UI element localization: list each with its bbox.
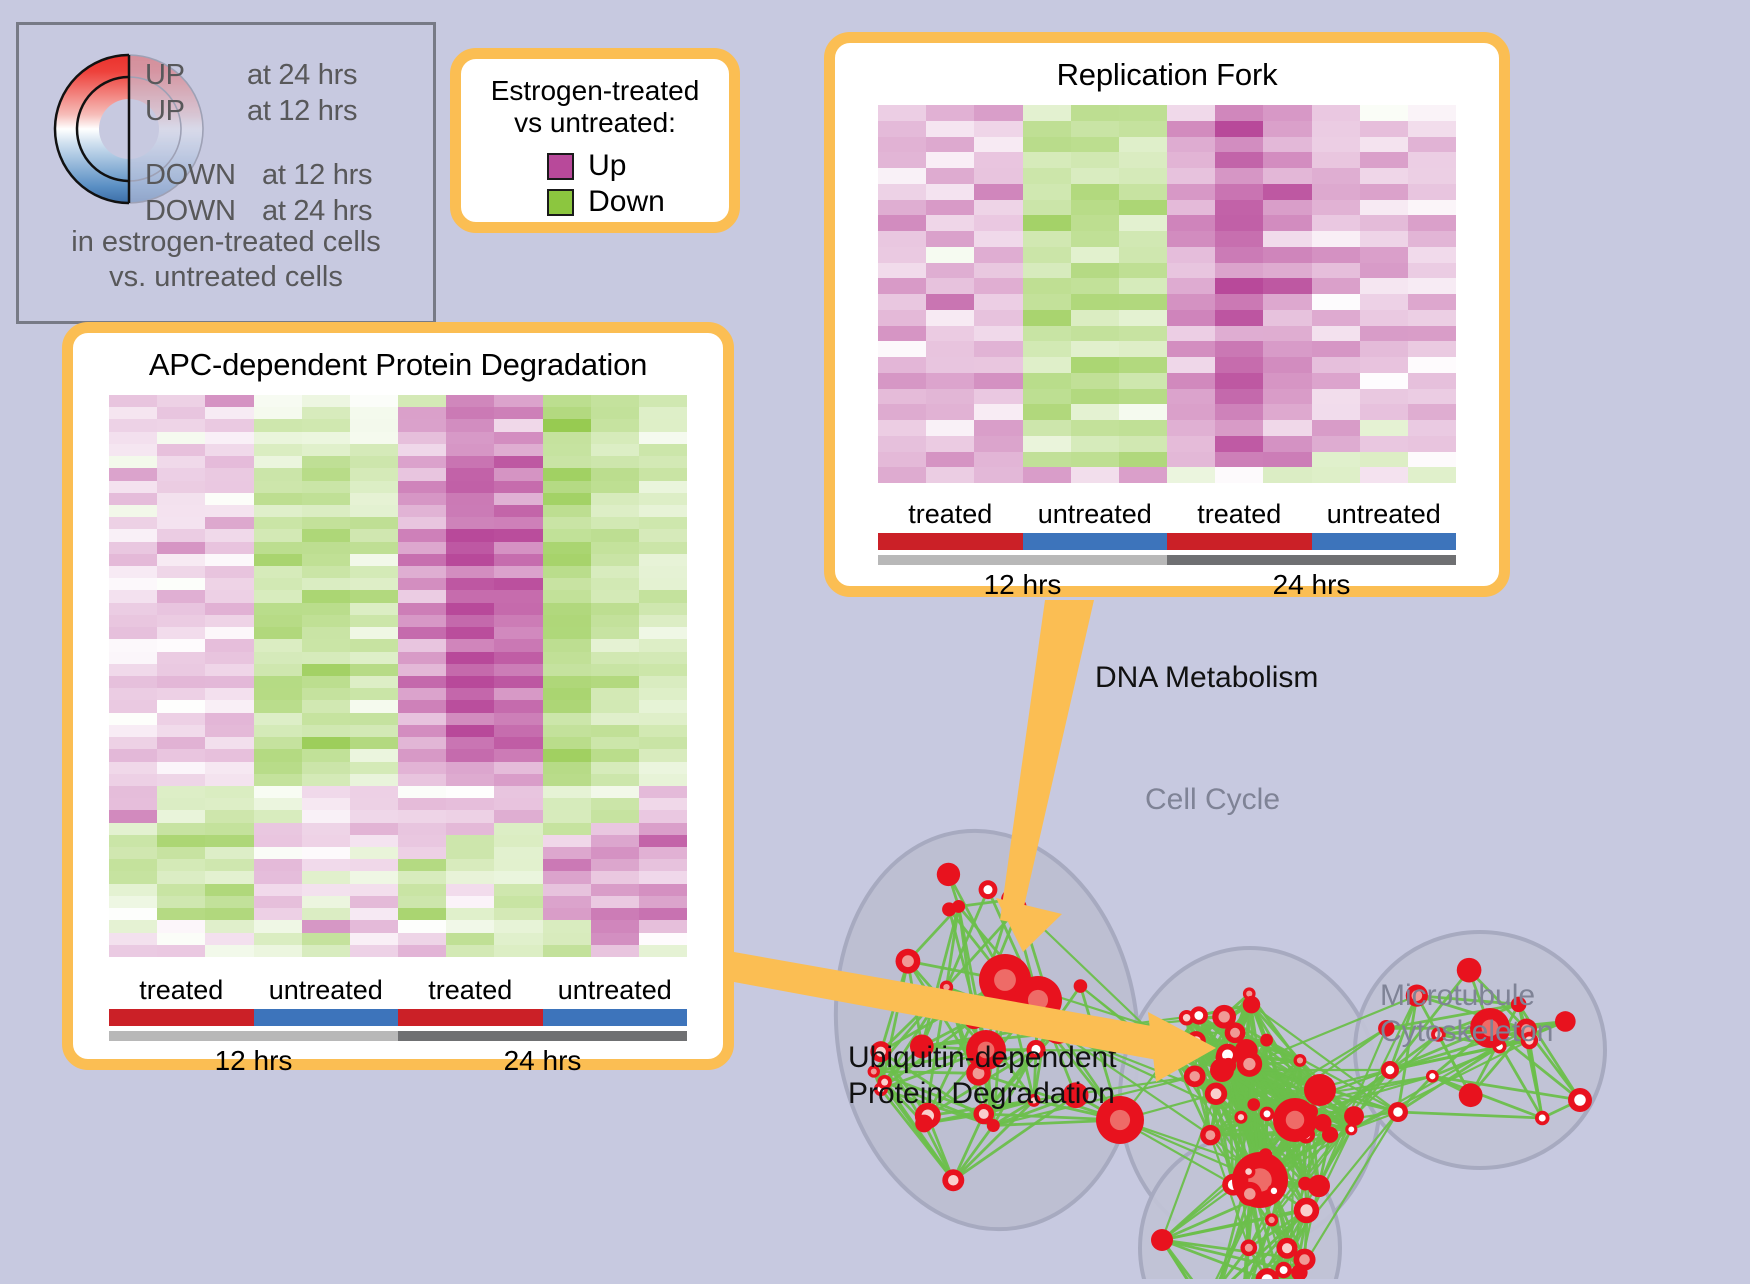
cluster-label-microtubule-cytoskeleton: Microtubule Cytoskeleton: [1380, 978, 1553, 1050]
replication-time-colorbar: [878, 555, 1456, 565]
heatmap-cell: [446, 810, 494, 822]
heatmap-cell: [591, 639, 639, 651]
heatmap-cell: [205, 933, 253, 945]
heatmap-cell: [350, 810, 398, 822]
heatmap-cell: [205, 505, 253, 517]
heatmap-cell: [398, 933, 446, 945]
replication-condition-colorbar: [878, 533, 1456, 550]
heatmap-cell: [157, 945, 205, 957]
heatmap-cell: [254, 749, 302, 761]
heatmap-cell: [109, 762, 157, 774]
heatmap-cell: [350, 566, 398, 578]
heatmap-cell: [446, 713, 494, 725]
heatmap-cell: [302, 590, 350, 602]
heatmap-cell: [302, 810, 350, 822]
heatmap-cell: [205, 908, 253, 920]
heatmap-cell: [926, 137, 974, 153]
heatmap-cell: [1119, 121, 1167, 137]
heatmap-cell: [1408, 404, 1456, 420]
heatmap-cell: [254, 798, 302, 810]
heatmap-cell: [1360, 137, 1408, 153]
heatmap-cell: [543, 798, 591, 810]
heatmap-cell: [254, 468, 302, 480]
cluster-label-line: DNA Metabolism: [1095, 660, 1318, 696]
heatmap-cell: [302, 481, 350, 493]
heatmap-cell: [254, 786, 302, 798]
heatmap-cell: [205, 774, 253, 786]
heatmap-cell: [350, 725, 398, 737]
heatmap-cell: [254, 823, 302, 835]
condition-label-3: untreated: [1312, 499, 1457, 533]
heatmap-cell: [1071, 215, 1119, 231]
heatmap-cell: [1167, 357, 1215, 373]
heatmap-cell: [254, 517, 302, 529]
heatmap-cell: [926, 168, 974, 184]
heatmap-cell: [205, 823, 253, 835]
heatmap-cell: [1215, 357, 1263, 373]
heatmap-cell: [639, 786, 687, 798]
heatmap-cell: [543, 468, 591, 480]
heatmap-cell: [639, 615, 687, 627]
heatmap-cell: [543, 871, 591, 883]
heatmap-cell: [109, 859, 157, 871]
heatmap-cell: [446, 762, 494, 774]
heatmap-cell: [1023, 247, 1071, 263]
heatmap-cell: [1312, 373, 1360, 389]
condition-bar-0: [878, 533, 1023, 550]
heatmap-cell: [591, 554, 639, 566]
heatmap-cell: [109, 481, 157, 493]
heatmap-cell: [302, 554, 350, 566]
heatmap-cell: [350, 774, 398, 786]
heatmap-cell: [639, 737, 687, 749]
heatmap-cell: [926, 263, 974, 279]
heatmap-cell: [398, 713, 446, 725]
heatmap-cell: [639, 700, 687, 712]
heatmap-cell: [878, 436, 926, 452]
heatmap-cell: [1215, 404, 1263, 420]
heatmap-cell: [974, 310, 1022, 326]
heatmap-cell: [350, 481, 398, 493]
ring-row-label-3: DOWN: [145, 195, 236, 228]
heatmap-cell: [350, 737, 398, 749]
heatmap-cell: [494, 810, 542, 822]
heatmap-cell: [1023, 137, 1071, 153]
heatmap-cell: [350, 786, 398, 798]
heatmap-cell: [494, 652, 542, 664]
heatmap-cell: [109, 419, 157, 431]
heatmap-cell: [974, 278, 1022, 294]
heatmap-cell: [398, 664, 446, 676]
heatmap-cell: [1023, 436, 1071, 452]
heatmap-cell: [926, 420, 974, 436]
heatmap-cell: [205, 847, 253, 859]
heatmap-cell: [350, 798, 398, 810]
heatmap-cell: [205, 615, 253, 627]
heatmap-cell: [494, 419, 542, 431]
heatmap-cell: [302, 493, 350, 505]
heatmap-cell: [1263, 357, 1311, 373]
heatmap-cell: [543, 542, 591, 554]
heatmap-cell: [205, 566, 253, 578]
heatmap-cell: [494, 896, 542, 908]
heatmap-cell: [205, 493, 253, 505]
heatmap-cell: [494, 884, 542, 896]
heatmap-cell: [591, 493, 639, 505]
heatmap-cell: [591, 847, 639, 859]
heatmap-cell: [302, 945, 350, 957]
heatmap-cell: [1408, 121, 1456, 137]
heatmap-cell: [543, 627, 591, 639]
network-node-core: [1190, 1071, 1200, 1081]
heatmap-cell: [446, 945, 494, 957]
heatmap-cell: [350, 688, 398, 700]
heatmap-cell: [878, 231, 926, 247]
heatmap-cell: [543, 590, 591, 602]
heatmap-cell: [543, 835, 591, 847]
heatmap-cell: [254, 603, 302, 615]
apc-degradation-heatmap: [109, 395, 687, 957]
heatmap-cell: [157, 542, 205, 554]
heatmap-cell: [1360, 467, 1408, 483]
heatmap-cell: [1408, 137, 1456, 153]
condition-label-0: treated: [109, 975, 254, 1009]
condition-label-0: treated: [878, 499, 1023, 533]
heatmap-cell: [494, 542, 542, 554]
heatmap-cell: [1023, 152, 1071, 168]
heatmap-cell: [109, 896, 157, 908]
heatmap-cell: [974, 436, 1022, 452]
heatmap-cell: [109, 676, 157, 688]
heatmap-cell: [398, 566, 446, 578]
heatmap-cell: [591, 945, 639, 957]
heatmap-cell: [1071, 420, 1119, 436]
heatmap-cell: [254, 713, 302, 725]
heatmap-cell: [639, 554, 687, 566]
heatmap-cell: [1119, 436, 1167, 452]
heatmap-cell: [398, 590, 446, 602]
network-node-core: [1348, 1126, 1354, 1132]
heatmap-cell: [254, 676, 302, 688]
heatmap-cell: [350, 456, 398, 468]
heatmap-cell: [398, 639, 446, 651]
heatmap-cell: [974, 152, 1022, 168]
heatmap-cell: [494, 481, 542, 493]
heatmap-cell: [398, 432, 446, 444]
heatmap-cell: [543, 432, 591, 444]
heatmap-cell: [1215, 294, 1263, 310]
network-node: [1151, 1229, 1173, 1251]
heatmap-cell: [639, 847, 687, 859]
heatmap-cell: [1360, 215, 1408, 231]
network-node-core: [1245, 1168, 1252, 1175]
heatmap-cell: [974, 231, 1022, 247]
heatmap-cell: [157, 456, 205, 468]
network-node: [1308, 1175, 1330, 1197]
heatmap-cell: [254, 456, 302, 468]
heatmap-cell: [157, 713, 205, 725]
heatmap-cell: [398, 810, 446, 822]
heatmap-cell: [302, 639, 350, 651]
heatmap-cell: [1408, 294, 1456, 310]
heatmap-cell: [398, 419, 446, 431]
ring-legend-footer-line2: vs. untreated cells: [19, 260, 433, 295]
heatmap-cell: [543, 762, 591, 774]
heatmap-cell: [591, 444, 639, 456]
heatmap-cell: [494, 688, 542, 700]
ring-row-time-0: at 24 hrs: [247, 59, 357, 92]
heatmap-cell: [1312, 452, 1360, 468]
heatmap-cell: [1023, 357, 1071, 373]
heatmap-cell: [639, 529, 687, 541]
heatmap-cell: [157, 395, 205, 407]
heatmap-cell: [350, 590, 398, 602]
heatmap-cell: [1023, 452, 1071, 468]
heatmap-cell: [1215, 278, 1263, 294]
apc-condition-labels: treated untreated treated untreated: [109, 975, 687, 1009]
heatmap-cell: [1263, 152, 1311, 168]
heatmap-cell: [109, 664, 157, 676]
heatmap-cell: [494, 578, 542, 590]
heatmap-cell: [543, 554, 591, 566]
heatmap-cell: [157, 481, 205, 493]
network-node-core: [1386, 1066, 1395, 1075]
heatmap-cell: [157, 652, 205, 664]
network-node: [1322, 1127, 1338, 1143]
heatmap-cell: [1023, 294, 1071, 310]
heatmap-cell: [1167, 326, 1215, 342]
heatmap-cell: [591, 603, 639, 615]
heatmap-cell: [1263, 247, 1311, 263]
heatmap-cell: [543, 713, 591, 725]
heatmap-cell: [302, 419, 350, 431]
heatmap-cell: [302, 688, 350, 700]
heatmap-cell: [1167, 215, 1215, 231]
apc-condition-colorbar: [109, 1009, 687, 1026]
heatmap-cell: [157, 505, 205, 517]
heatmap-cell: [1360, 452, 1408, 468]
heatmap-cell: [1023, 184, 1071, 200]
network-node-core: [1282, 1243, 1292, 1253]
heatmap-cell: [1263, 121, 1311, 137]
heatmap-cell: [205, 700, 253, 712]
heatmap-cell: [302, 676, 350, 688]
heatmap-cell: [254, 774, 302, 786]
replication-fork-panel: Replication Fork treated untreated treat…: [824, 32, 1510, 597]
heatmap-cell: [109, 908, 157, 920]
heatmap-cell: [350, 933, 398, 945]
heatmap-cell: [157, 664, 205, 676]
heatmap-cell: [1119, 137, 1167, 153]
heatmap-cell: [1071, 436, 1119, 452]
heatmap-cell: [446, 920, 494, 932]
heatmap-cell: [254, 884, 302, 896]
heatmap-cell: [1312, 278, 1360, 294]
heatmap-cell: [1167, 200, 1215, 216]
heatmap-cell: [302, 725, 350, 737]
heatmap-cell: [494, 664, 542, 676]
ring-gradient-svg: [49, 39, 209, 219]
heatmap-cell: [639, 566, 687, 578]
heatmap-cell: [1263, 137, 1311, 153]
heatmap-cell: [157, 407, 205, 419]
heatmap-cell: [205, 627, 253, 639]
heatmap-cell: [157, 835, 205, 847]
heatmap-cell: [205, 713, 253, 725]
heatmap-cell: [350, 529, 398, 541]
heatmap-cell: [302, 542, 350, 554]
heatmap-cell: [639, 456, 687, 468]
heatmap-cell: [302, 517, 350, 529]
up-label: Up: [588, 149, 626, 183]
down-label: Down: [588, 185, 665, 219]
heatmap-cell: [109, 639, 157, 651]
key-item-up: Up: [547, 149, 665, 183]
heatmap-cell: [350, 713, 398, 725]
heatmap-cell: [205, 945, 253, 957]
heatmap-cell: [1215, 420, 1263, 436]
heatmap-cell: [543, 444, 591, 456]
heatmap-cell: [494, 407, 542, 419]
heatmap-cell: [543, 774, 591, 786]
heatmap-cell: [350, 700, 398, 712]
heatmap-cell: [1215, 263, 1263, 279]
heatmap-cell: [205, 542, 253, 554]
heatmap-cell: [1312, 263, 1360, 279]
heatmap-cell: [109, 847, 157, 859]
heatmap-cell: [543, 737, 591, 749]
heatmap-cell: [1360, 247, 1408, 263]
network-node-core: [1192, 1036, 1201, 1045]
heatmap-cell: [1360, 373, 1408, 389]
heatmap-cell: [639, 725, 687, 737]
heatmap-cell: [350, 871, 398, 883]
heatmap-cell: [109, 810, 157, 822]
heatmap-cell: [639, 664, 687, 676]
heatmap-cell: [591, 395, 639, 407]
heatmap-cell: [157, 419, 205, 431]
condition-bar-1: [254, 1009, 399, 1026]
heatmap-cell: [974, 420, 1022, 436]
heatmap-cell: [1071, 467, 1119, 483]
network-node: [1210, 1058, 1234, 1082]
heatmap-cell: [639, 871, 687, 883]
heatmap-cell: [205, 725, 253, 737]
heatmap-cell: [1071, 152, 1119, 168]
heatmap-cell: [494, 627, 542, 639]
heatmap-cell: [1119, 341, 1167, 357]
ring-row-label-0: UP: [145, 59, 185, 92]
network-node: [1247, 1098, 1260, 1111]
heatmap-cell: [1312, 137, 1360, 153]
network-node-core: [1165, 1045, 1176, 1056]
heatmap-cell: [350, 517, 398, 529]
heatmap-cell: [254, 847, 302, 859]
heatmap-cell: [398, 395, 446, 407]
heatmap-cell: [157, 590, 205, 602]
heatmap-cell: [878, 326, 926, 342]
heatmap-cell: [1408, 231, 1456, 247]
heatmap-cell: [398, 847, 446, 859]
heatmap-cell: [639, 688, 687, 700]
up-color-swatch: [547, 153, 574, 180]
heatmap-cell: [1119, 278, 1167, 294]
heatmap-cell: [1263, 341, 1311, 357]
heatmap-cell: [205, 603, 253, 615]
heatmap-cell: [157, 823, 205, 835]
heatmap-cell: [543, 933, 591, 945]
cluster-label-line: Cytoskeleton: [1380, 1014, 1553, 1050]
heatmap-cell: [543, 566, 591, 578]
heatmap-cell: [157, 908, 205, 920]
heatmap-cell: [494, 456, 542, 468]
heatmap-cell: [1408, 247, 1456, 263]
heatmap-cell: [1215, 215, 1263, 231]
heatmap-cell: [205, 664, 253, 676]
heatmap-cell: [205, 529, 253, 541]
heatmap-cell: [1071, 294, 1119, 310]
heatmap-cell: [1167, 389, 1215, 405]
heatmap-cell: [494, 835, 542, 847]
heatmap-cell: [639, 639, 687, 651]
network-node-core: [1429, 1073, 1435, 1079]
cluster-label-ubiquitin-degradation: Ubiquitin-dependent Protein Degradation: [848, 1040, 1117, 1112]
cluster-label-line: Ubiquitin-dependent: [848, 1040, 1117, 1076]
heatmap-cell: [591, 566, 639, 578]
heatmap-cell: [205, 810, 253, 822]
heatmap-cell: [398, 627, 446, 639]
heatmap-cell: [494, 798, 542, 810]
cluster-halo-dna-metabolism: [811, 811, 1164, 1249]
key-title-line1: Estrogen-treated: [461, 75, 729, 107]
heatmap-cell: [302, 933, 350, 945]
heatmap-cell: [926, 326, 974, 342]
network-node-core: [1244, 1188, 1256, 1200]
heatmap-cell: [350, 432, 398, 444]
heatmap-cell: [1360, 357, 1408, 373]
heatmap-cell: [350, 920, 398, 932]
heatmap-cell: [926, 467, 974, 483]
heatmap-cell: [1023, 389, 1071, 405]
cluster-label-line: Protein Degradation: [848, 1076, 1117, 1112]
heatmap-cell: [205, 481, 253, 493]
network-node: [1243, 996, 1261, 1014]
heatmap-cell: [1263, 231, 1311, 247]
heatmap-cell: [205, 432, 253, 444]
heatmap-cell: [591, 774, 639, 786]
heatmap-cell: [591, 725, 639, 737]
heatmap-cell: [494, 615, 542, 627]
heatmap-cell: [639, 676, 687, 688]
heatmap-cell: [350, 896, 398, 908]
heatmap-cell: [350, 407, 398, 419]
heatmap-cell: [157, 859, 205, 871]
heatmap-cell: [1071, 357, 1119, 373]
heatmap-cell: [1023, 278, 1071, 294]
heatmap-cell: [1263, 467, 1311, 483]
heatmap-cell: [254, 945, 302, 957]
heatmap-cell: [254, 627, 302, 639]
heatmap-cell: [1408, 152, 1456, 168]
heatmap-cell: [109, 749, 157, 761]
heatmap-cell: [1023, 467, 1071, 483]
heatmap-cell: [157, 920, 205, 932]
heatmap-cell: [1312, 326, 1360, 342]
heatmap-cell: [157, 774, 205, 786]
heatmap-cell: [350, 639, 398, 651]
heatmap-cell: [1071, 278, 1119, 294]
heatmap-cell: [1408, 105, 1456, 121]
